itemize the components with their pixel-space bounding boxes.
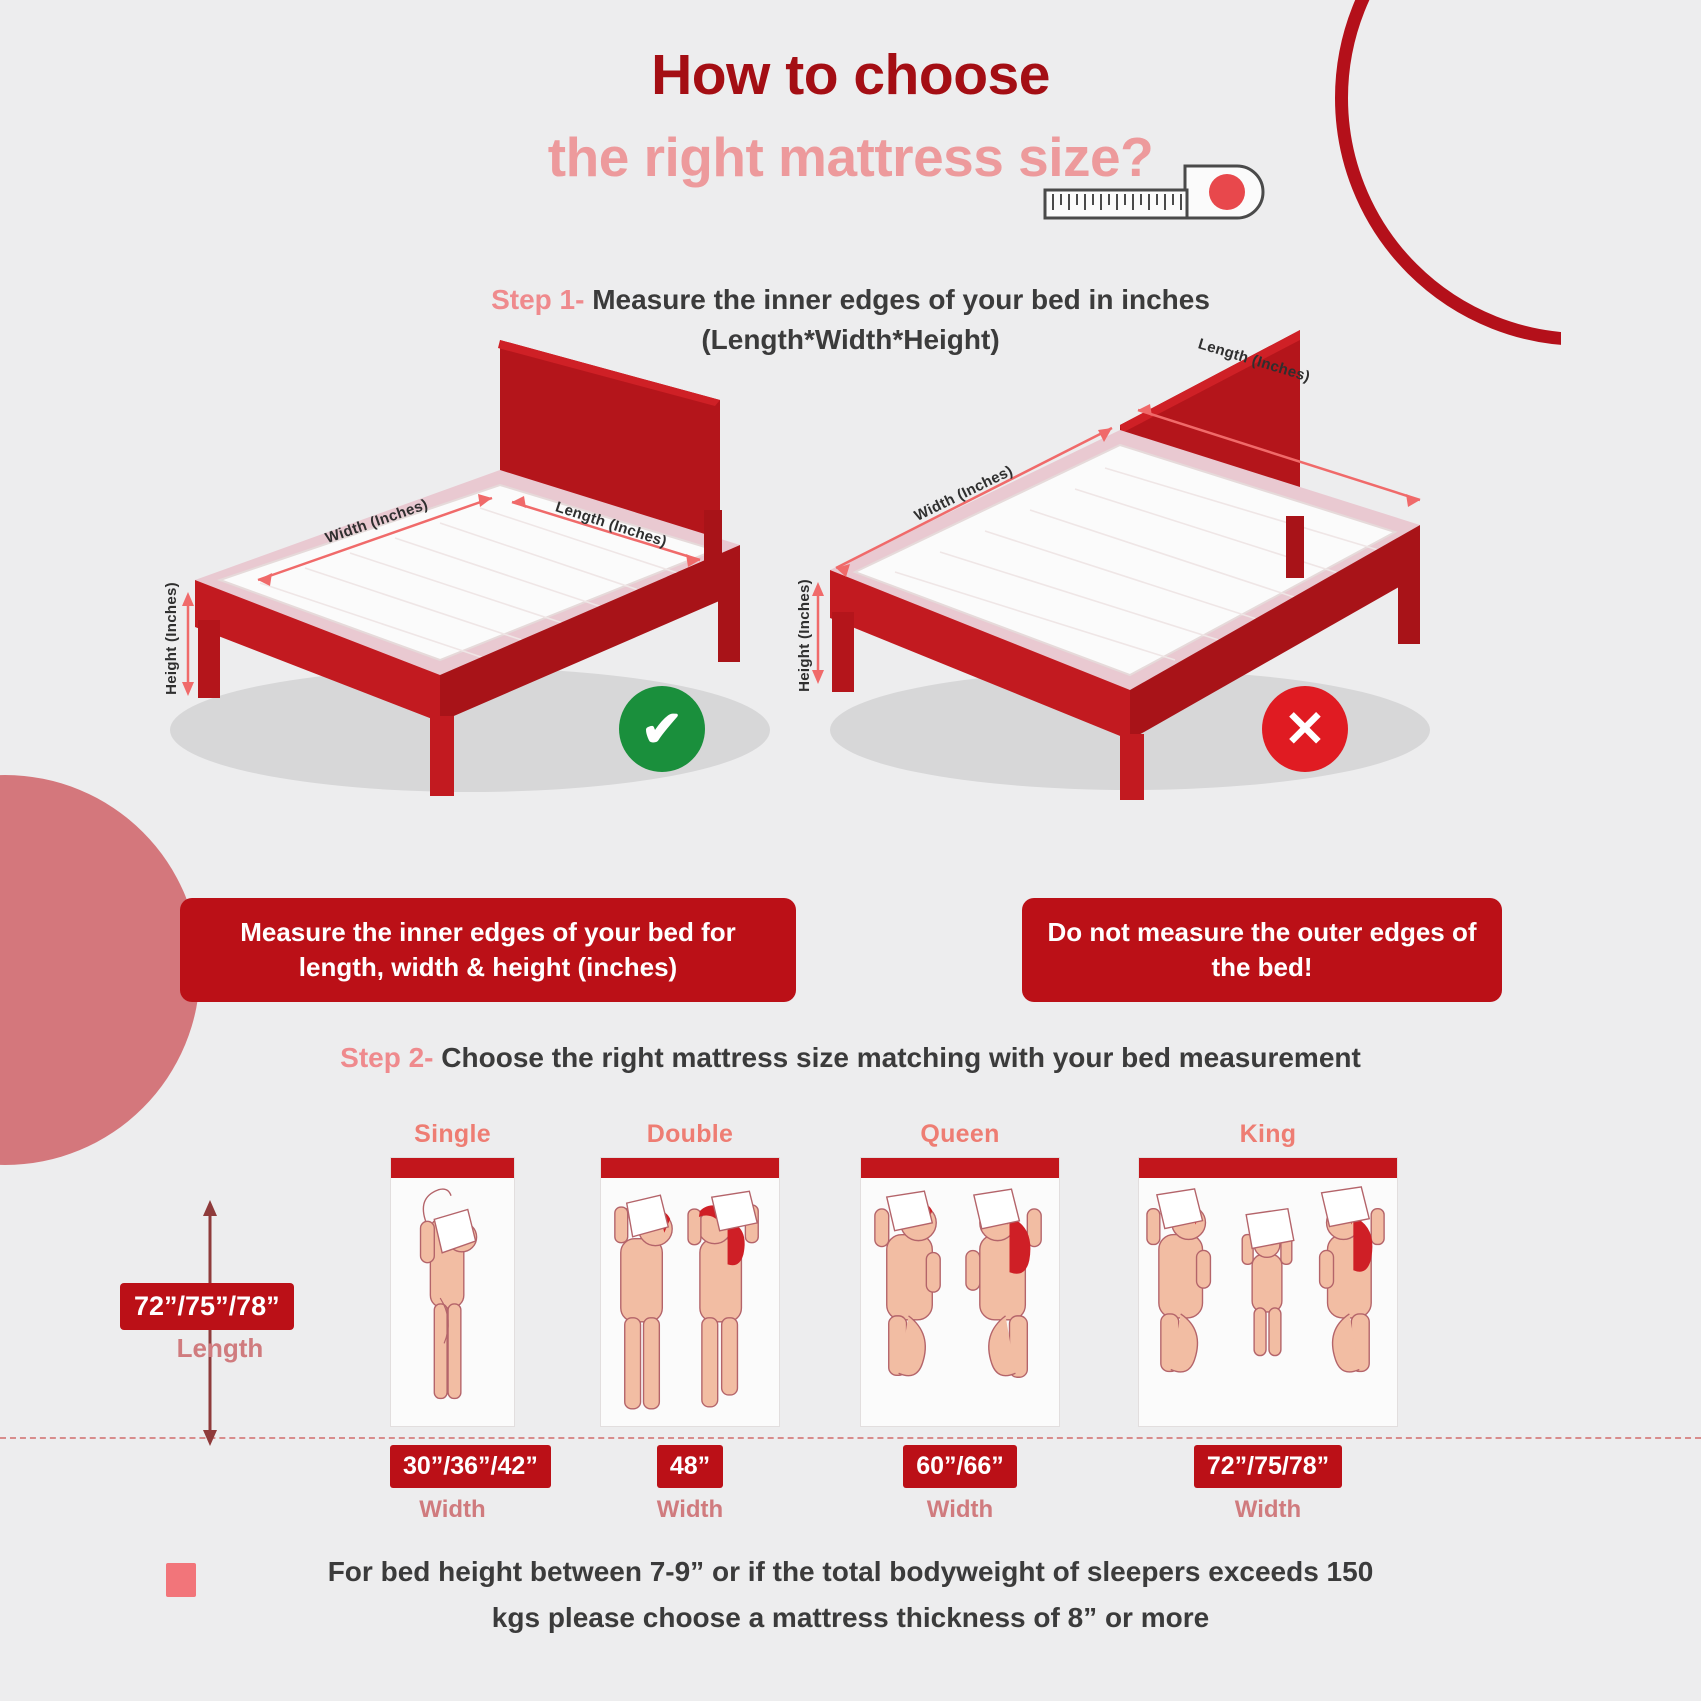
sleeper-illustration-double bbox=[601, 1178, 779, 1427]
mattress-single bbox=[390, 1157, 515, 1427]
bed-left-height-label: Height (Inches) bbox=[163, 582, 180, 695]
width-chip-single: 30”/36”/42” bbox=[390, 1445, 551, 1488]
page-subtitle: the right mattress size? bbox=[0, 125, 1701, 189]
step2-heading: Step 2- Choose the right mattress size m… bbox=[0, 1042, 1701, 1074]
infographic-canvas: How to choose the right mattress size? S… bbox=[0, 0, 1701, 1701]
size-title-king: King bbox=[1138, 1120, 1398, 1149]
measuring-tape-icon bbox=[1035, 160, 1265, 240]
size-column-king[interactable]: King bbox=[1138, 1120, 1398, 1524]
size-title-queen: Queen bbox=[860, 1120, 1060, 1149]
width-caption-single: Width bbox=[390, 1496, 515, 1524]
headboard bbox=[391, 1158, 514, 1178]
step2-text: Choose the right mattress size matching … bbox=[434, 1042, 1361, 1073]
width-caption-double: Width bbox=[600, 1496, 780, 1524]
check-icon: ✔ bbox=[619, 686, 705, 772]
width-chip-queen: 60”/66” bbox=[903, 1445, 1017, 1488]
width-label-king: 72”/75/78” Width bbox=[1138, 1445, 1398, 1524]
headboard bbox=[601, 1158, 779, 1178]
mattress-size-row: Single 30”/36”/42” bbox=[0, 1120, 1701, 1540]
width-label-double: 48” Width bbox=[600, 1445, 780, 1524]
page-title: How to choose bbox=[0, 42, 1701, 108]
width-caption-king: Width bbox=[1138, 1496, 1398, 1524]
width-label-single: 30”/36”/42” Width bbox=[390, 1445, 515, 1524]
callout-correct: Measure the inner edges of your bed for … bbox=[180, 898, 796, 1002]
left-circle-decoration bbox=[0, 775, 200, 1165]
mattress-double bbox=[600, 1157, 780, 1427]
width-chip-king: 72”/75/78” bbox=[1194, 1445, 1342, 1488]
headboard bbox=[1139, 1158, 1397, 1178]
size-title-single: Single bbox=[390, 1120, 515, 1149]
bed-diagram-outer-measure: Width (Inches) Length (Inches) Height (I… bbox=[800, 300, 1480, 800]
size-title-double: Double bbox=[600, 1120, 780, 1149]
sleeper-illustration-single bbox=[391, 1178, 514, 1427]
mattress-king bbox=[1138, 1157, 1398, 1427]
bed-right-height-label: Height (Inches) bbox=[796, 579, 813, 692]
step2-tag: Step 2- bbox=[340, 1042, 433, 1073]
footer-line2: kgs please choose a mattress thickness o… bbox=[0, 1602, 1701, 1634]
sleeper-illustration-king bbox=[1139, 1178, 1397, 1427]
footer-line1: For bed height between 7-9” or if the to… bbox=[0, 1556, 1701, 1588]
cross-icon: ✕ bbox=[1262, 686, 1348, 772]
width-label-queen: 60”/66” Width bbox=[860, 1445, 1060, 1524]
bed-diagram-inner-measure: Width (Inches) Length (Inches) Height (I… bbox=[140, 330, 840, 800]
callout-incorrect: Do not measure the outer edges of the be… bbox=[1022, 898, 1502, 1002]
size-column-queen[interactable]: Queen bbox=[860, 1120, 1060, 1524]
size-column-double[interactable]: Double bbox=[600, 1120, 780, 1524]
mattress-queen bbox=[860, 1157, 1060, 1427]
headboard bbox=[861, 1158, 1059, 1178]
step1-tag: Step 1- bbox=[491, 284, 584, 315]
width-chip-double: 48” bbox=[657, 1445, 723, 1488]
sleeper-illustration-queen bbox=[861, 1178, 1059, 1427]
width-caption-queen: Width bbox=[860, 1496, 1060, 1524]
size-column-single[interactable]: Single 30”/36”/42” bbox=[390, 1120, 515, 1524]
